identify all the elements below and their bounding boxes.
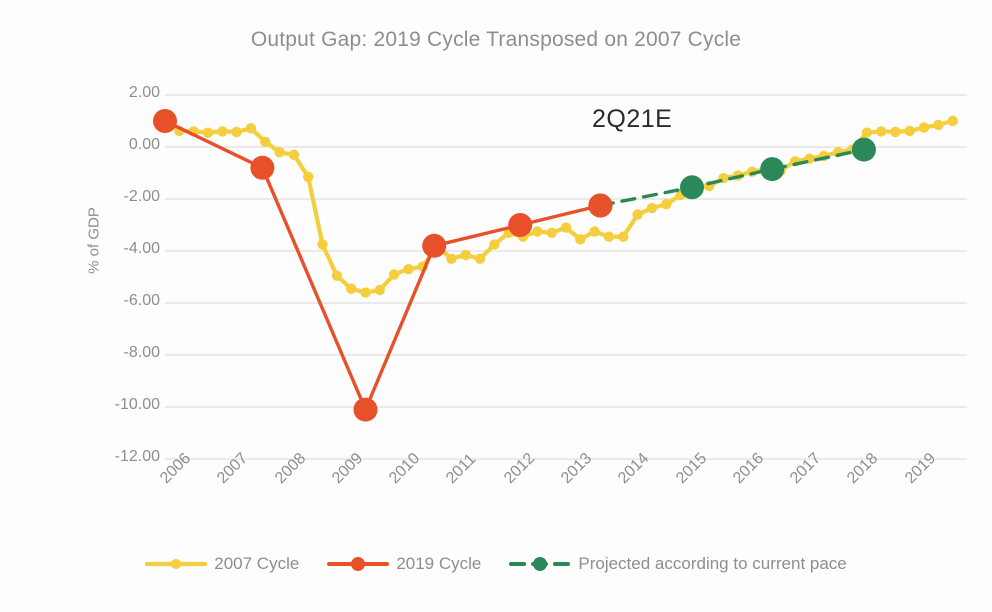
x-tick-label: 2008 [272,450,310,488]
x-tick-label: 2009 [329,450,367,488]
x-tick-label: 2011 [443,451,480,488]
x-tick-label: 2019 [902,450,940,488]
x-tick-label: 2012 [501,450,539,488]
legend-label: 2019 Cycle [396,554,481,574]
legend-item[interactable]: 2007 Cycle [145,554,299,574]
legend-swatch-icon [509,555,571,573]
legend-swatch-icon [145,555,207,573]
x-tick-label: 2018 [844,450,882,488]
x-axis-tick-labels: 2006200720082009201020112012201320142015… [0,0,992,612]
legend-swatch-icon [327,555,389,573]
x-tick-label: 2017 [787,450,825,488]
x-tick-label: 2013 [558,450,596,488]
legend-item[interactable]: 2019 Cycle [327,554,481,574]
x-tick-label: 2014 [615,450,653,488]
annotation-2q21e: 2Q21E [592,105,672,134]
legend-label: 2007 Cycle [214,554,299,574]
x-tick-label: 2006 [157,450,195,488]
chart-container: Output Gap: 2019 Cycle Transposed on 200… [0,0,992,612]
x-tick-label: 2015 [673,450,711,488]
chart-legend: 2007 Cycle2019 CycleProjected according … [0,554,992,574]
x-tick-label: 2007 [214,450,252,488]
legend-item[interactable]: Projected according to current pace [509,554,846,574]
x-tick-label: 2010 [386,450,424,488]
x-tick-label: 2016 [730,450,768,488]
legend-label: Projected according to current pace [578,554,846,574]
